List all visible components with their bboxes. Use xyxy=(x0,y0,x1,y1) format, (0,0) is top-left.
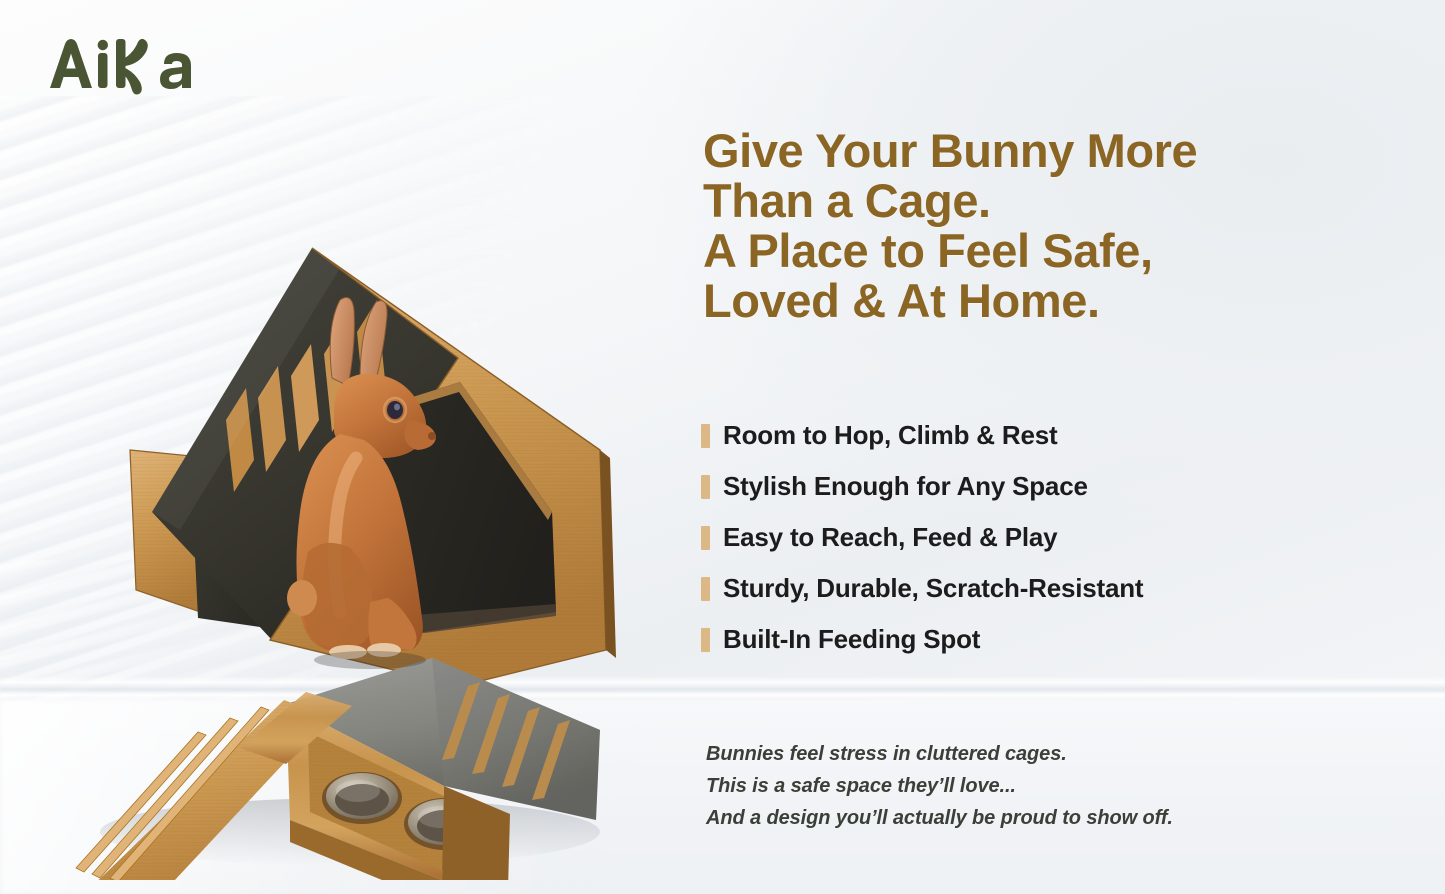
bullet-marker-icon xyxy=(701,526,710,550)
list-item: Sturdy, Durable, Scratch-Resistant xyxy=(701,563,1401,614)
rabbit-eye xyxy=(387,401,403,419)
brand-logo xyxy=(46,34,236,96)
product-photo-rabbit-house xyxy=(40,120,700,880)
feature-list: Room to Hop, Climb & Rest Stylish Enough… xyxy=(701,410,1401,665)
list-item: Room to Hop, Climb & Rest xyxy=(701,410,1401,461)
feature-label: Sturdy, Durable, Scratch-Resistant xyxy=(723,573,1143,604)
stainless-steel-bowl-left xyxy=(322,772,402,824)
list-item: Built-In Feeding Spot xyxy=(701,614,1401,665)
tagline-block: Bunnies feel stress in cluttered cages. … xyxy=(706,738,1406,834)
headline-block: Give Your Bunny More Than a Cage. A Plac… xyxy=(703,126,1403,326)
feature-label: Room to Hop, Climb & Rest xyxy=(723,420,1057,451)
list-item: Easy to Reach, Feed & Play xyxy=(701,512,1401,563)
feature-label: Easy to Reach, Feed & Play xyxy=(723,522,1057,553)
list-item: Stylish Enough for Any Space xyxy=(701,461,1401,512)
bullet-marker-icon xyxy=(701,577,710,601)
bullet-marker-icon xyxy=(701,628,710,652)
bullet-marker-icon xyxy=(701,424,710,448)
product-banner: Give Your Bunny More Than a Cage. A Plac… xyxy=(0,0,1445,894)
rabbit-tail xyxy=(287,580,317,616)
page-title: Give Your Bunny More Than a Cage. A Plac… xyxy=(703,126,1403,326)
aika-logo-icon xyxy=(46,34,236,96)
feature-label: Stylish Enough for Any Space xyxy=(723,471,1088,502)
feature-label: Built-In Feeding Spot xyxy=(723,624,980,655)
rabbit-nose xyxy=(428,432,436,440)
bullet-marker-icon xyxy=(701,475,710,499)
